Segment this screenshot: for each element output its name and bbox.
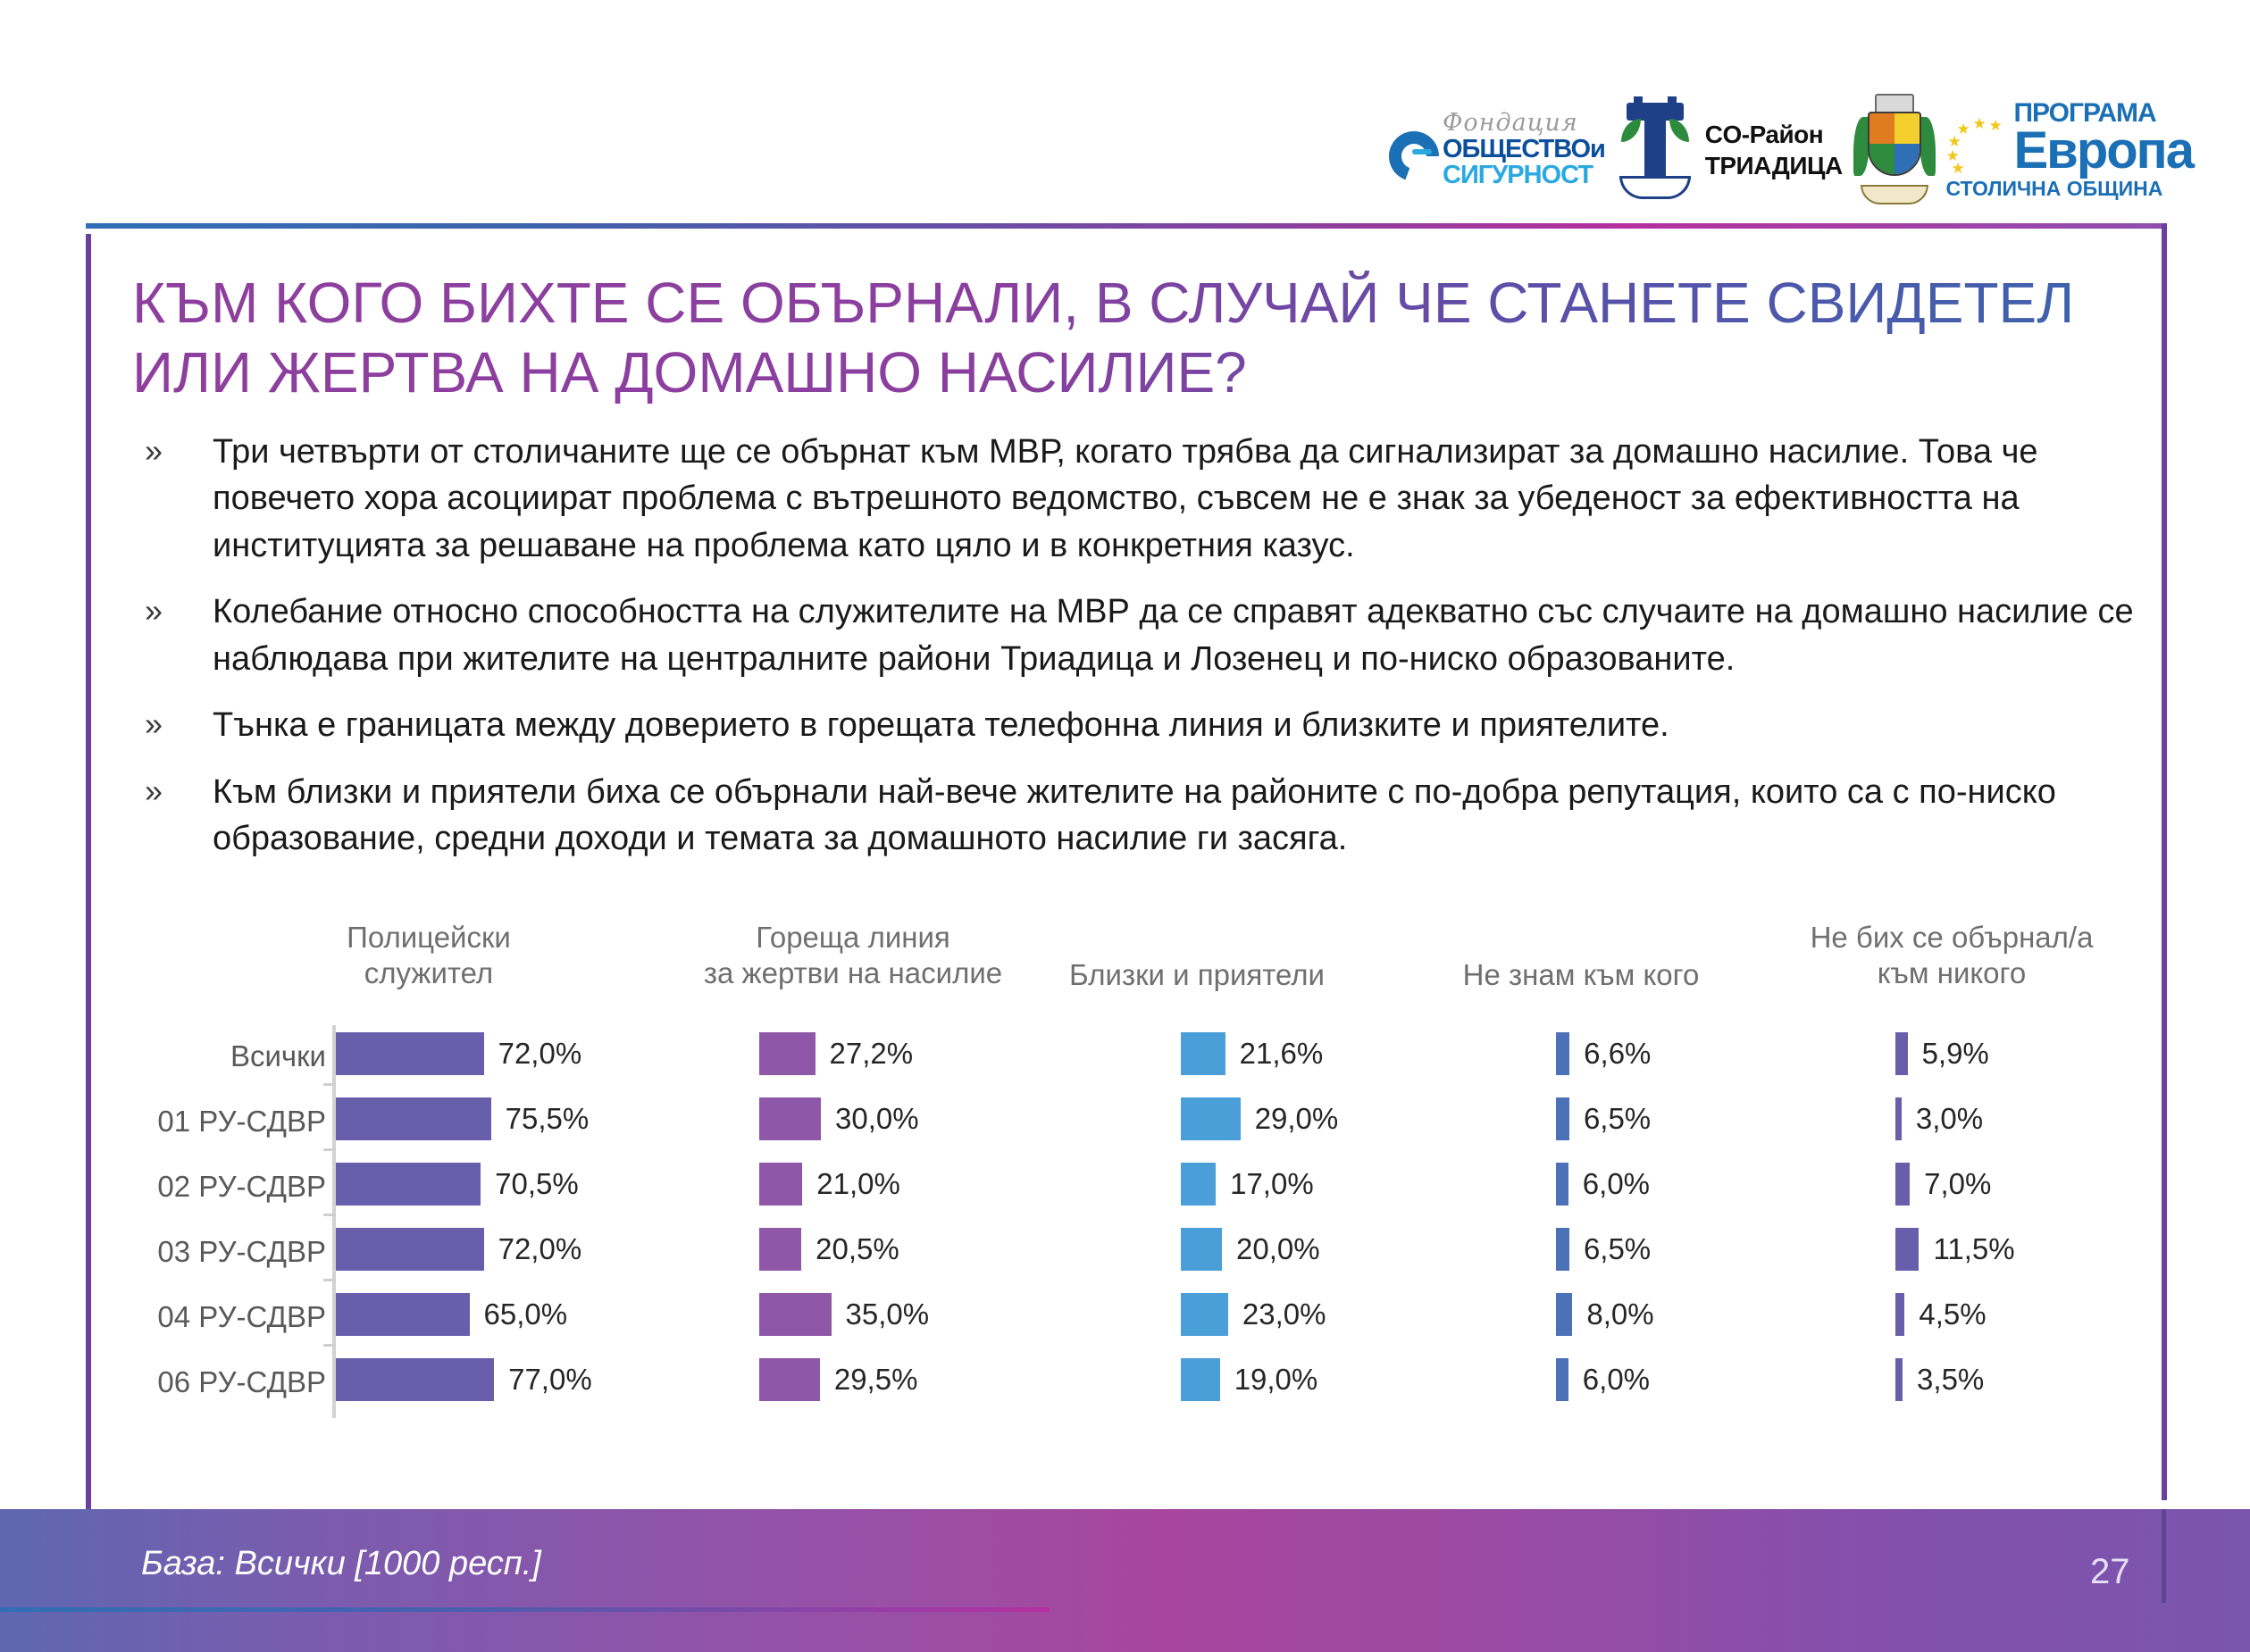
column-header-line1: Полицейски bbox=[241, 920, 616, 955]
bar-value-label: 29,5% bbox=[834, 1363, 918, 1397]
coat-of-arms-icon bbox=[1852, 94, 1937, 206]
bar bbox=[1181, 1228, 1222, 1271]
triaditsa-line1: CO-Район bbox=[1705, 119, 1843, 150]
footer-underline bbox=[0, 1607, 1050, 1612]
bar bbox=[1556, 1293, 1572, 1336]
column-header-line1: Гореща линия bbox=[621, 920, 1085, 955]
bar-value-label: 17,0% bbox=[1230, 1167, 1314, 1201]
axis-tick bbox=[323, 1279, 336, 1281]
row-label: 06 РУ-СДВР bbox=[112, 1365, 326, 1399]
column-header-4: Не знам към кого bbox=[1402, 957, 1760, 993]
bar-value-label: 7,0% bbox=[1924, 1167, 1991, 1201]
logo-foundation-society-security: Фондация ОБЩЕСТВОи СИГУРНОСТ bbox=[1389, 92, 1605, 208]
chart-row: 02 РУ-СДВР70,5%21,0%17,0%6,0%7,0% bbox=[134, 1156, 2162, 1221]
chart-cell: 11,5% bbox=[1895, 1228, 2015, 1271]
chart-cell: 72,0% bbox=[336, 1032, 581, 1075]
bar bbox=[1895, 1293, 1904, 1336]
bar-value-label: 35,0% bbox=[846, 1297, 930, 1331]
row-label: 04 РУ-СДВР bbox=[112, 1300, 326, 1334]
bar-value-label: 4,5% bbox=[1919, 1297, 1986, 1331]
chart-rows: Всички72,0%27,2%21,6%6,6%5,9%01 РУ-СДВР7… bbox=[134, 1025, 2162, 1416]
column-header-1: Полицейскислужител bbox=[241, 920, 616, 992]
chart-cell: 7,0% bbox=[1895, 1163, 1991, 1206]
bar bbox=[1556, 1358, 1568, 1401]
axis-tick bbox=[323, 1148, 336, 1151]
page-title: Към кого бихте се обърнали, в случай че … bbox=[132, 268, 2079, 407]
chart-cell: 65,0% bbox=[336, 1293, 567, 1336]
logo-programa-evropa: ★ ★ ★ ★ ★ ★ ПРОГРАМА Европа СТОЛИЧНА ОБЩ… bbox=[1945, 92, 2193, 208]
bar bbox=[1895, 1228, 1919, 1271]
bar-value-label: 21,0% bbox=[816, 1167, 900, 1201]
axis-tick bbox=[323, 1214, 336, 1216]
bullet-list: » Три четвърти от столичаните ще се обър… bbox=[134, 429, 2162, 882]
frame-top-line bbox=[86, 223, 2167, 229]
evropa-subtitle: СТОЛИЧНА ОБЩИНА bbox=[1945, 177, 2162, 201]
chart-cell: 5,9% bbox=[1895, 1032, 1989, 1075]
bar bbox=[1556, 1228, 1569, 1271]
bar bbox=[1895, 1358, 1903, 1401]
chart-cell: 6,6% bbox=[1556, 1032, 1651, 1075]
bullet-item: » Тънка е границата между доверието в го… bbox=[134, 702, 2162, 748]
row-label: 01 РУ-СДВР bbox=[112, 1105, 326, 1139]
column-header-line2: за жертви на насилие bbox=[621, 955, 1085, 991]
bar-value-label: 11,5% bbox=[1933, 1232, 2014, 1266]
bar bbox=[759, 1032, 816, 1075]
bar bbox=[1556, 1163, 1568, 1206]
chart-cell: 8,0% bbox=[1556, 1293, 1654, 1336]
bar-value-label: 20,5% bbox=[816, 1232, 899, 1266]
bar-value-label: 21,6% bbox=[1240, 1037, 1324, 1071]
column-emblem-icon bbox=[1614, 97, 1696, 203]
chart-cell: 19,0% bbox=[1181, 1358, 1317, 1401]
column-header-2: Гореща линияза жертви на насилие bbox=[621, 920, 1085, 992]
bar bbox=[759, 1163, 802, 1206]
eu-stars-icon: ★ ★ ★ ★ ★ ★ bbox=[1945, 116, 2008, 173]
foundation-line2: СИГУРНОСТ bbox=[1443, 163, 1605, 188]
bar bbox=[1181, 1293, 1228, 1336]
axis-tick bbox=[323, 1083, 336, 1086]
bar bbox=[1181, 1097, 1241, 1140]
bullet-item: » Три четвърти от столичаните ще се обър… bbox=[134, 429, 2162, 569]
chart-cell: 72,0% bbox=[336, 1228, 581, 1271]
foundation-line1: ОБЩЕСТВОи bbox=[1443, 137, 1605, 163]
bar-value-label: 5,9% bbox=[1922, 1037, 1989, 1071]
bar bbox=[759, 1097, 821, 1140]
chart-cell: 35,0% bbox=[759, 1293, 929, 1336]
bullet-marker: » bbox=[134, 429, 213, 569]
bar bbox=[1181, 1163, 1216, 1206]
bar-value-label: 3,0% bbox=[1916, 1102, 1983, 1136]
chart-cell: 21,6% bbox=[1181, 1032, 1323, 1075]
chart-cell: 70,5% bbox=[336, 1163, 579, 1206]
row-label: 02 РУ-СДВР bbox=[112, 1170, 326, 1204]
bar-value-label: 72,0% bbox=[498, 1232, 582, 1266]
logo-bar: Фондация ОБЩЕСТВОи СИГУРНОСТ CO-Район ТР… bbox=[1389, 89, 2193, 210]
bar-value-label: 19,0% bbox=[1234, 1363, 1318, 1397]
chart-cell: 4,5% bbox=[1895, 1293, 1987, 1336]
chart-cell: 75,5% bbox=[336, 1097, 589, 1140]
bar bbox=[1895, 1163, 1910, 1206]
bar-value-label: 27,2% bbox=[830, 1037, 914, 1071]
triaditsa-line2: ТРИАДИЦА bbox=[1705, 150, 1843, 181]
bar bbox=[1895, 1097, 1902, 1140]
chart-cell: 17,0% bbox=[1181, 1163, 1314, 1206]
column-header-3: Близки и приятели bbox=[1027, 957, 1367, 993]
bar bbox=[336, 1293, 470, 1336]
chart-cell: 23,0% bbox=[1181, 1293, 1326, 1336]
slide: Фондация ОБЩЕСТВОи СИГУРНОСТ CO-Район ТР… bbox=[0, 0, 2250, 1652]
column-header-line2: служител bbox=[241, 955, 616, 991]
bar bbox=[1556, 1032, 1569, 1075]
chart-cell: 27,2% bbox=[759, 1032, 913, 1075]
bullet-item: » Към близки и приятели биха се обърнали… bbox=[134, 769, 2162, 863]
chart-row: 06 РУ-СДВР77,0%29,5%19,0%6,0%3,5% bbox=[134, 1351, 2162, 1416]
frame-left-line bbox=[86, 234, 91, 1511]
bar bbox=[1181, 1358, 1220, 1401]
foundation-circle-icon bbox=[1389, 131, 1439, 181]
chart-cell: 6,5% bbox=[1556, 1228, 1651, 1271]
bullet-text: Тънка е границата между доверието в горе… bbox=[213, 702, 2146, 748]
page-number: 27 bbox=[2090, 1552, 2130, 1592]
bar-value-label: 72,0% bbox=[498, 1037, 582, 1071]
chart-cell: 29,5% bbox=[759, 1358, 917, 1401]
bar-value-label: 77,0% bbox=[508, 1363, 592, 1397]
bar-chart: ПолицейскислужителГореща линияза жертви … bbox=[134, 920, 2162, 1420]
bullet-item: » Колебание относно способността на служ… bbox=[134, 588, 2162, 682]
bullet-text: Колебание относно способността на служит… bbox=[213, 588, 2146, 682]
column-header-line1: Близки и приятели bbox=[1027, 957, 1367, 993]
chart-cell: 3,5% bbox=[1895, 1358, 1984, 1401]
chart-cell: 6,0% bbox=[1556, 1163, 1650, 1206]
chart-cell: 6,0% bbox=[1556, 1358, 1650, 1401]
bar bbox=[759, 1293, 832, 1336]
footer-bar: База: Всички [1000 респ.] 27 bbox=[0, 1509, 2250, 1652]
axis-tick bbox=[323, 1344, 336, 1347]
bullet-marker: » bbox=[134, 702, 213, 748]
bar bbox=[336, 1163, 481, 1206]
bar bbox=[336, 1358, 494, 1401]
bar-value-label: 6,0% bbox=[1583, 1363, 1650, 1397]
bar bbox=[336, 1097, 491, 1140]
bar-value-label: 23,0% bbox=[1242, 1297, 1326, 1331]
chart-cell: 30,0% bbox=[759, 1097, 919, 1140]
evropa-title: Европа bbox=[2013, 129, 2193, 172]
logo-so-rayon-triaditsa: CO-Район ТРИАДИЦА bbox=[1614, 92, 1843, 208]
bar-value-label: 6,6% bbox=[1584, 1037, 1651, 1071]
chart-cell: 3,0% bbox=[1895, 1097, 1983, 1140]
chart-row: 04 РУ-СДВР65,0%35,0%23,0%8,0%4,5% bbox=[134, 1286, 2162, 1351]
bar bbox=[759, 1228, 801, 1271]
footer-right-line bbox=[2162, 1509, 2166, 1603]
foundation-script-label: Фондация bbox=[1443, 111, 1605, 135]
bar bbox=[1556, 1097, 1569, 1140]
bar-value-label: 70,5% bbox=[495, 1167, 579, 1201]
bar-value-label: 6,0% bbox=[1583, 1167, 1650, 1201]
bullet-marker: » bbox=[134, 769, 213, 863]
bullet-marker: » bbox=[134, 588, 213, 682]
bar-value-label: 20,0% bbox=[1236, 1232, 1320, 1266]
bar-value-label: 75,5% bbox=[506, 1102, 590, 1136]
bar bbox=[1181, 1032, 1225, 1075]
frame-right-line bbox=[2162, 223, 2167, 1500]
column-header-line1: Не знам към кого bbox=[1402, 957, 1760, 993]
chart-column-headers: ПолицейскислужителГореща линияза жертви … bbox=[134, 920, 2162, 1018]
bar-value-label: 8,0% bbox=[1586, 1297, 1653, 1331]
base-label: База: Всички [1000 респ.] bbox=[141, 1545, 541, 1583]
chart-cell: 29,0% bbox=[1181, 1097, 1338, 1140]
bar-value-label: 30,0% bbox=[835, 1102, 919, 1136]
bar-value-label: 6,5% bbox=[1584, 1232, 1651, 1266]
chart-row: 03 РУ-СДВР72,0%20,5%20,0%6,5%11,5% bbox=[134, 1221, 2162, 1286]
bar-value-label: 65,0% bbox=[484, 1297, 568, 1331]
chart-cell: 77,0% bbox=[336, 1358, 592, 1401]
bar bbox=[759, 1358, 820, 1401]
row-label: Всички bbox=[112, 1039, 326, 1073]
bar-value-label: 29,0% bbox=[1255, 1102, 1339, 1136]
row-label: 03 РУ-СДВР bbox=[112, 1235, 326, 1269]
chart-cell: 6,5% bbox=[1556, 1097, 1651, 1140]
column-header-5: Не бих се обърнал/акъм никого bbox=[1764, 920, 2139, 992]
chart-cell: 21,0% bbox=[759, 1163, 900, 1206]
chart-row: 01 РУ-СДВР75,5%30,0%29,0%6,5%3,0% bbox=[134, 1090, 2162, 1156]
chart-row: Всички72,0%27,2%21,6%6,6%5,9% bbox=[134, 1025, 2162, 1090]
bar bbox=[336, 1228, 484, 1271]
bar bbox=[1895, 1032, 1908, 1075]
bar bbox=[336, 1032, 484, 1075]
bar-value-label: 6,5% bbox=[1584, 1102, 1651, 1136]
chart-cell: 20,0% bbox=[1181, 1228, 1320, 1271]
bar-value-label: 3,5% bbox=[1917, 1363, 1984, 1397]
bullet-text: Към близки и приятели биха се обърнали н… bbox=[213, 769, 2146, 863]
chart-cell: 20,5% bbox=[759, 1228, 899, 1271]
logo-sofia-coat-of-arms bbox=[1852, 92, 1937, 208]
bullet-text: Три четвърти от столичаните ще се обърна… bbox=[213, 429, 2146, 569]
column-header-line1: Не бих се обърнал/а bbox=[1764, 920, 2139, 955]
column-header-line2: към никого bbox=[1764, 955, 2139, 991]
